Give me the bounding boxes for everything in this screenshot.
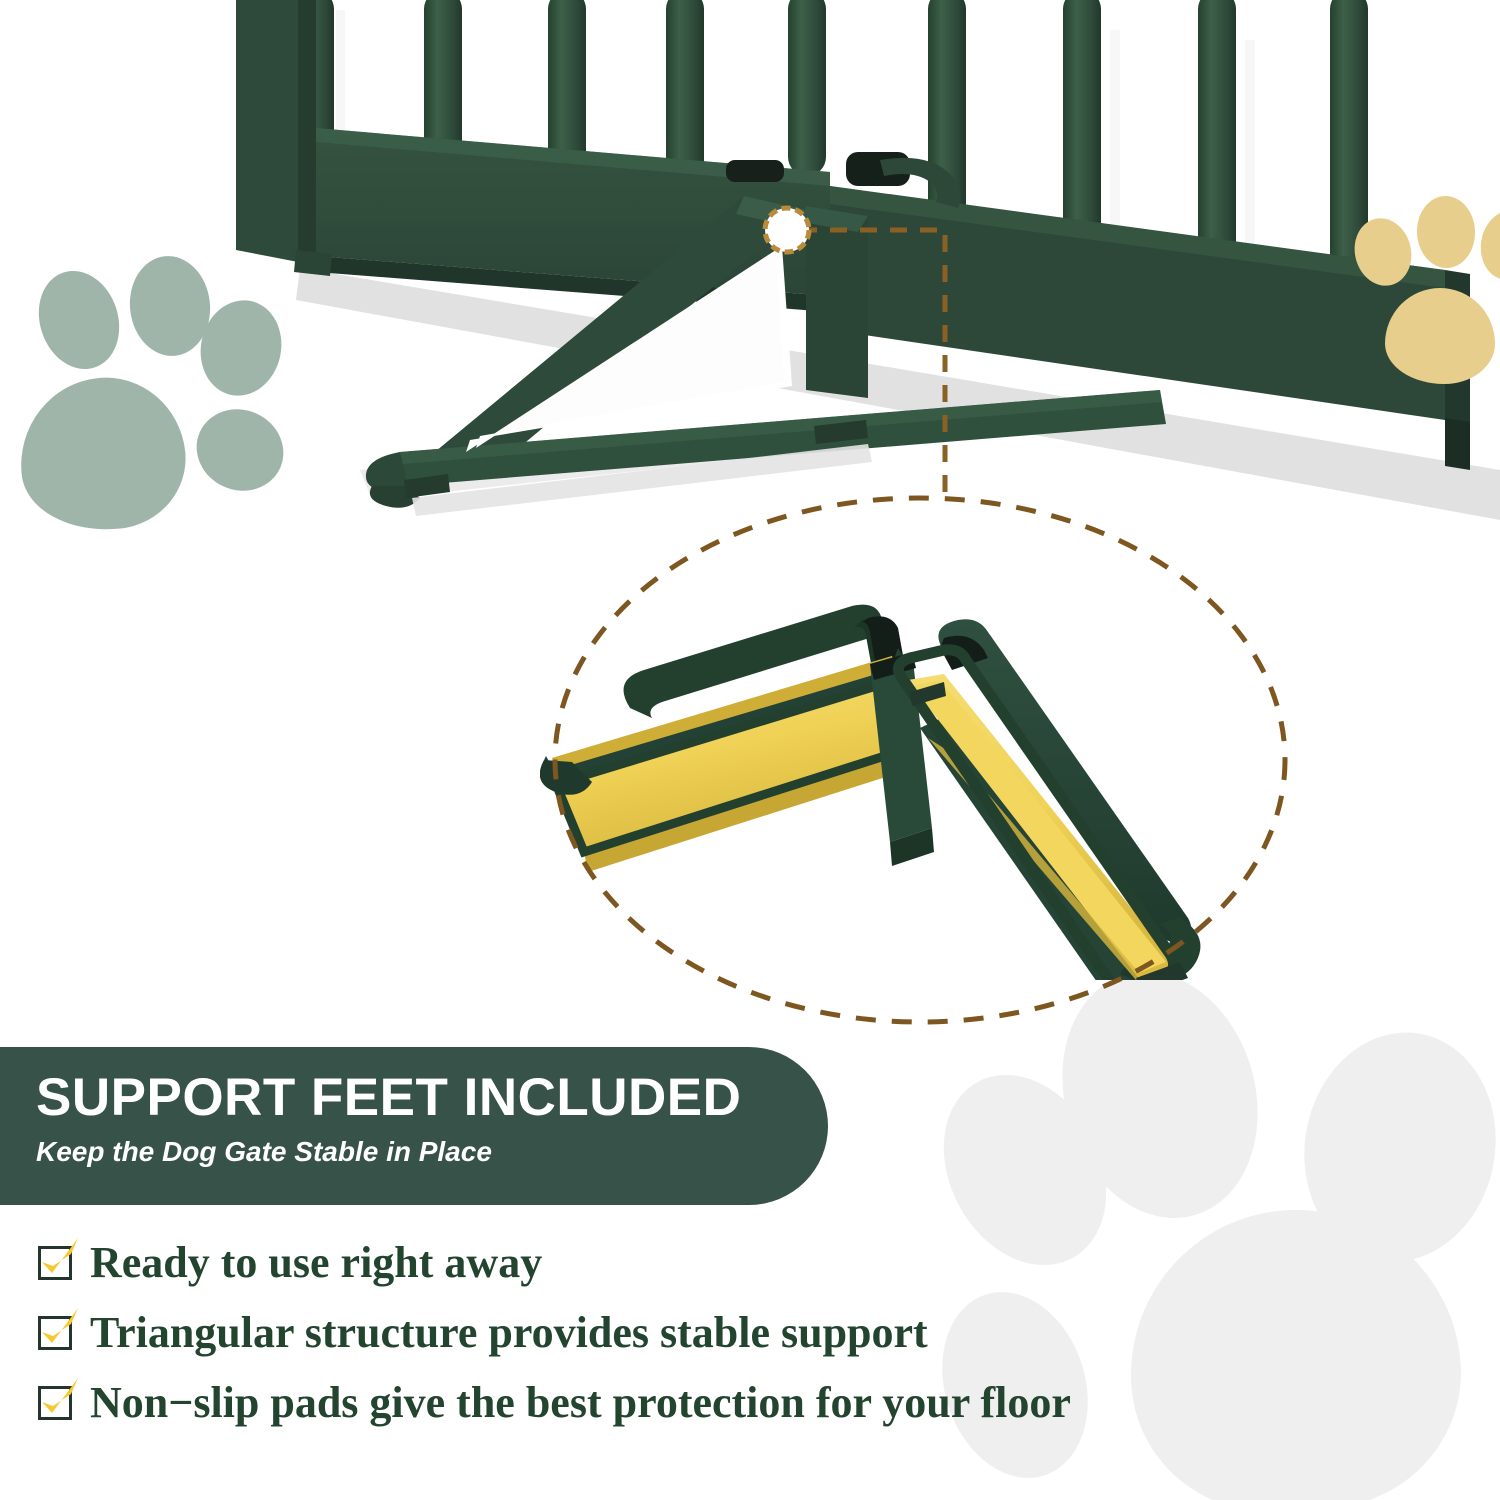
banner-subtitle: Keep the Dog Gate Stable in Place [36, 1135, 828, 1169]
feature-bullet-label: Ready to use right away [90, 1238, 542, 1288]
feature-bullet-label: Non−slip pads give the best protection f… [90, 1378, 1071, 1428]
callout-connector-line [800, 230, 945, 505]
feature-bullet-item: Non−slip pads give the best protection f… [38, 1372, 1138, 1434]
feature-bullet-list: Ready to use right away Triangular struc… [38, 1232, 1138, 1442]
check-mark-icon [38, 1316, 72, 1350]
zoom-callout [0, 0, 1500, 1060]
feature-banner: SUPPORT FEET INCLUDED Keep the Dog Gate … [0, 1047, 828, 1205]
check-mark-icon [38, 1386, 72, 1420]
feature-bullet-label: Triangular structure provides stable sup… [90, 1308, 928, 1358]
callout-marker-dot [765, 208, 809, 252]
product-feature-image: SUPPORT FEET INCLUDED Keep the Dog Gate … [0, 0, 1500, 1500]
feature-bullet-item: Triangular structure provides stable sup… [38, 1302, 1138, 1364]
callout-ellipse [555, 498, 1285, 1022]
check-mark-icon [38, 1246, 72, 1280]
feature-bullet-item: Ready to use right away [38, 1232, 1138, 1294]
banner-title: SUPPORT FEET INCLUDED [36, 1069, 828, 1127]
